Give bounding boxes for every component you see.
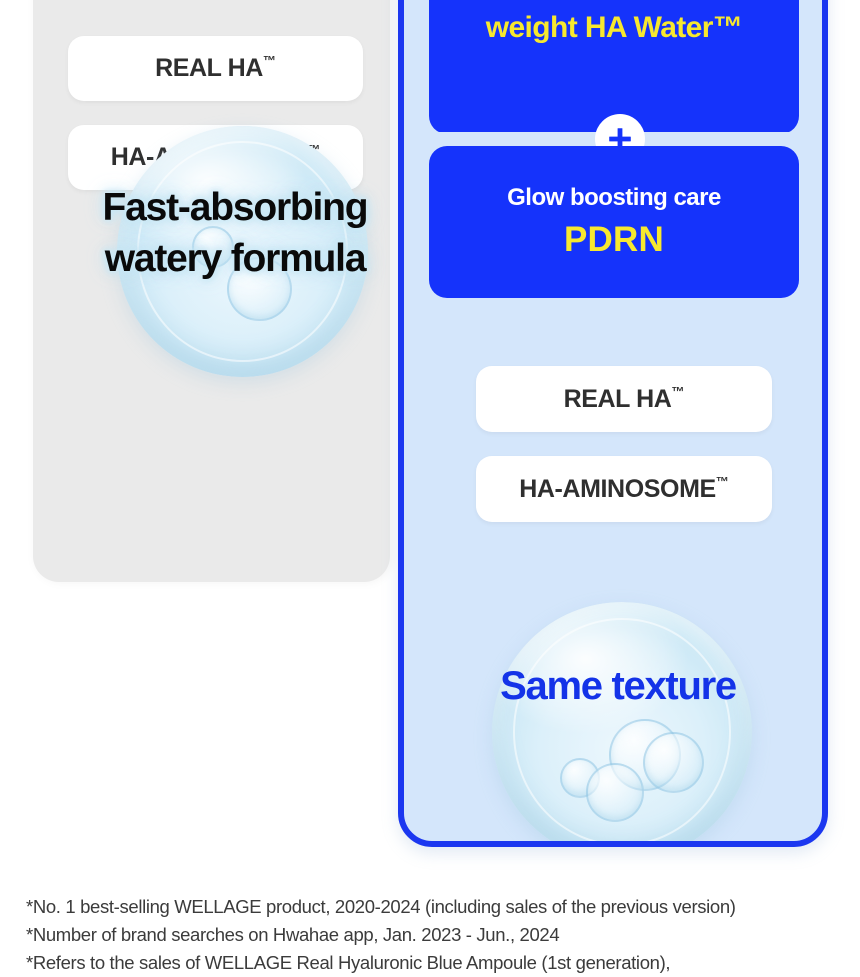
droplet-bubble xyxy=(609,719,681,791)
right-caption: Same texture xyxy=(418,664,818,709)
secondary-box-caption: Glow boosting care xyxy=(507,184,721,212)
highlight-label-line-2: weight HA Water™ xyxy=(473,7,755,50)
footnote-list: *No. 1 best-selling WELLAGE product, 202… xyxy=(26,893,846,977)
droplet-bubble xyxy=(560,758,600,798)
right-ingredient-pill-ha-aminosome: HA-AMINOSOME™ xyxy=(476,456,772,522)
left-caption: Fast-absorbing watery formula xyxy=(55,182,390,285)
new-version-panel: Super low molecular weight HA Water™ Glo… xyxy=(398,0,828,847)
left-pill-label-real-ha: REAL HA™ xyxy=(155,53,276,83)
right-ingredient-pill-real-ha: REAL HA™ xyxy=(476,366,772,432)
footnote-item: *No. 1 best-selling WELLAGE product, 202… xyxy=(26,893,846,921)
trademark-symbol: ™ xyxy=(263,53,276,68)
previous-version-card: REAL HA™ HA-AMINOSOME™ Fast-absorbing wa… xyxy=(33,0,390,582)
gel-droplet-image-right xyxy=(492,602,752,847)
product-comparison-graphic: REAL HA™ HA-AMINOSOME™ Fast-absorbing wa… xyxy=(0,0,860,971)
droplet-bubble xyxy=(643,732,704,793)
footnote-item: *Number of brand searches on Hwahae app,… xyxy=(26,921,846,949)
secondary-box-ingredient: PDRN xyxy=(564,220,664,260)
highlight-label-line-1: Super low molecular xyxy=(473,0,755,7)
right-pill-label-real-ha: REAL HA™ xyxy=(564,384,685,414)
secondary-ingredient-box: Glow boosting care PDRN xyxy=(429,146,799,298)
footnote-item: *Refers to the sales of WELLAGE Real Hya… xyxy=(26,949,846,977)
trademark-symbol: ™ xyxy=(716,474,729,489)
highlight-ingredient-label: Super low molecular weight HA Water™ xyxy=(459,0,769,50)
left-ingredient-pill-real-ha: REAL HA™ xyxy=(68,36,363,101)
right-pill-label-ha-aminosome: HA-AMINOSOME™ xyxy=(519,474,729,504)
left-caption-line-1: Fast-absorbing xyxy=(55,182,390,233)
trademark-symbol: ™ xyxy=(671,384,684,399)
droplet-bubble xyxy=(586,763,645,822)
left-caption-line-2: watery formula xyxy=(55,233,390,284)
